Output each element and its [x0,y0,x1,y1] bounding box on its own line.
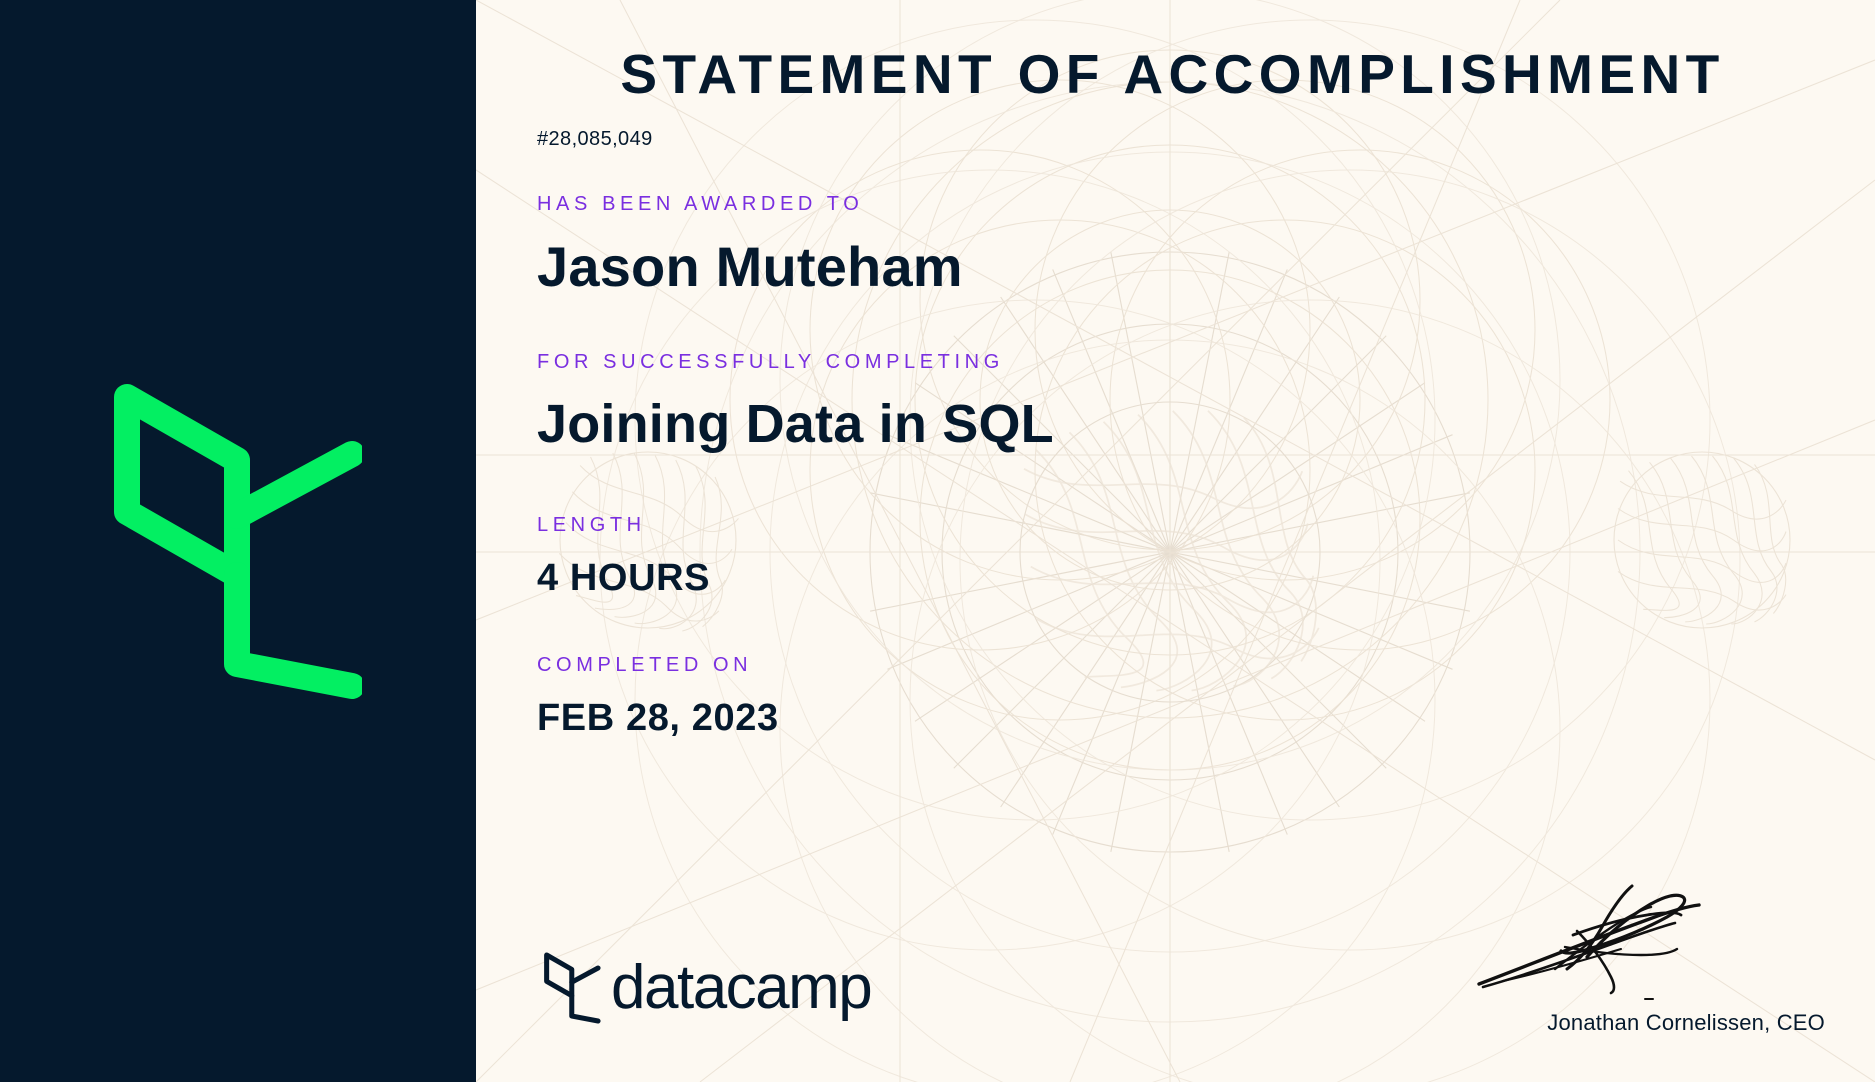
datacamp-logo-mark-small-icon [537,952,607,1024]
completed-on-label: COMPLETED ON [537,654,1875,677]
handwritten-signature-icon [1409,869,1829,1004]
certificate-number: #28,085,049 [537,128,1875,151]
svg-text:datacamp: datacamp [611,953,871,1022]
length-label: LENGTH [537,514,1875,537]
length-value: 4 HOURS [537,557,1875,600]
course-block: FOR SUCCESSFULLY COMPLETING Joining Data… [537,351,1875,454]
completed-on-value: FEB 28, 2023 [537,697,1875,740]
awarded-to-label: HAS BEEN AWARDED TO [537,193,1875,216]
datacamp-wordmark: datacamp [607,952,907,1024]
recipient-name: Jason Muteham [537,236,1875,299]
course-name: Joining Data in SQL [537,394,1875,454]
completed-block: COMPLETED ON FEB 28, 2023 [537,654,1875,740]
certificate: STATEMENT OF ACCOMPLISHMENT #28,085,049 … [0,0,1875,1082]
signature-area: Jonathan Cornelissen, CEO [1409,869,1829,1036]
certificate-body: STATEMENT OF ACCOMPLISHMENT #28,085,049 … [476,0,1875,1082]
length-block: LENGTH 4 HOURS [537,514,1875,600]
completing-label: FOR SUCCESSFULLY COMPLETING [537,351,1875,374]
page-title: STATEMENT OF ACCOMPLISHMENT [476,46,1875,102]
signature-caption: Jonathan Cornelissen, CEO [1409,1010,1829,1036]
awarded-to-block: HAS BEEN AWARDED TO Jason Muteham [537,193,1875,299]
brand-panel [0,0,476,1082]
datacamp-footer-logo: datacamp [537,952,907,1024]
datacamp-logo-mark-icon [114,384,362,699]
